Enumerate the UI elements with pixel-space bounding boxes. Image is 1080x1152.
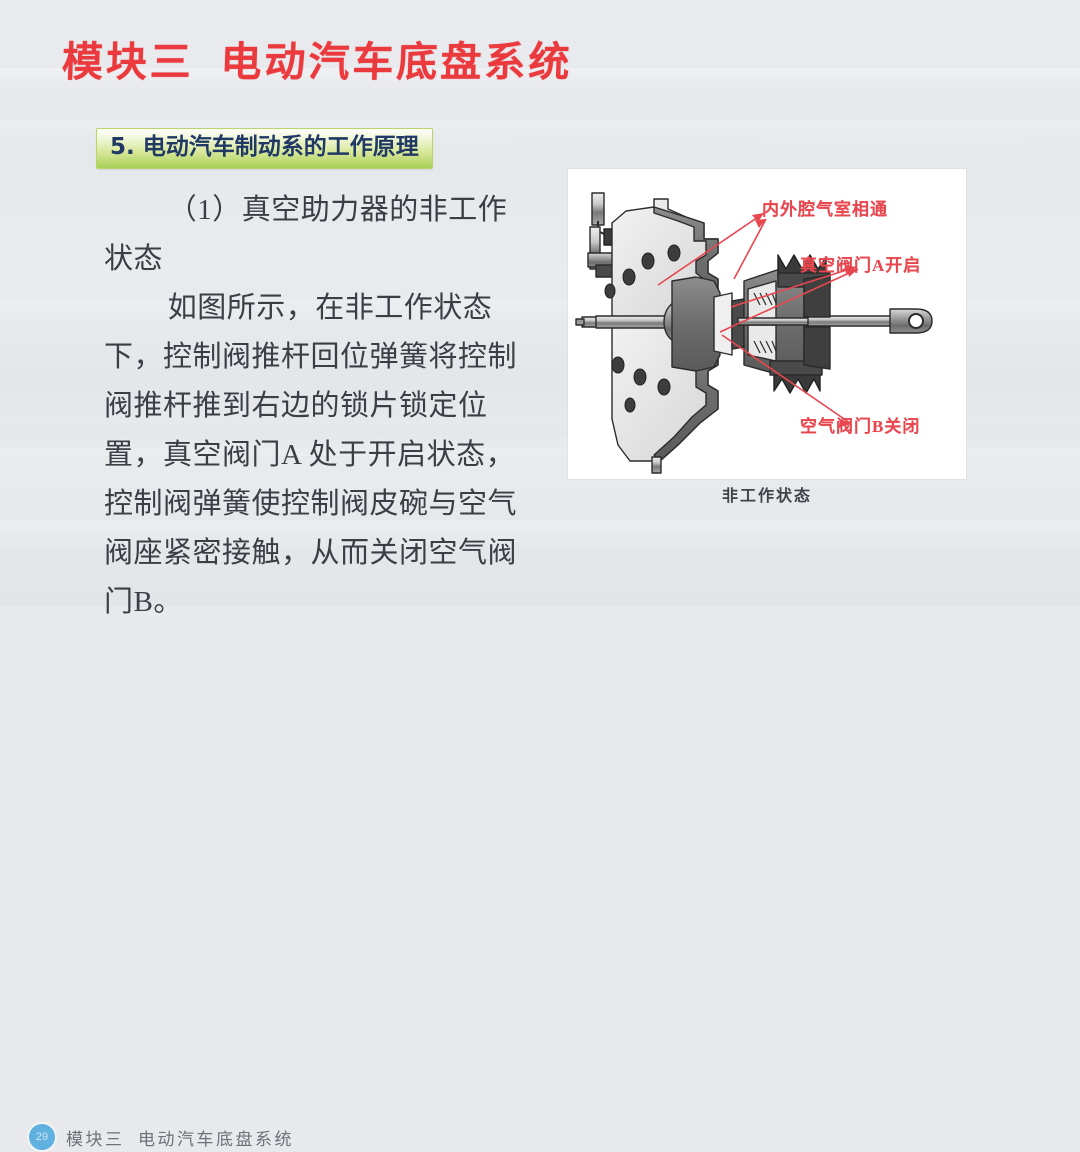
footer-bar: 29 模块三 电动汽车底盘系统 (0, 557, 1080, 607)
figure-caption: 非工作状态 (568, 482, 966, 506)
body-paragraph-1: （1）真空助力器的非工作状态 (104, 186, 534, 284)
page-number-badge: 29 (27, 1122, 57, 1152)
section-heading-banner: 5. 电动汽车制动系的工作原理 (96, 128, 433, 169)
page-number-label: 29 (36, 1132, 48, 1143)
slide-title: 模块三 电动汽车底盘系统 (61, 36, 573, 88)
figure-label-air-valve-b-closed: 空气阀门B关闭 (800, 412, 920, 437)
footer-title: 模块三 电动汽车底盘系统 (66, 1125, 294, 1150)
figure-label-inner-outer-chamber: 内外腔气室相通 (762, 195, 888, 220)
section-heading-label: 5. 电动汽车制动系的工作原理 (110, 133, 419, 162)
figure-label-vacuum-valve-a-open: 真空阀门A开启 (800, 251, 921, 276)
slide-canvas: 模块三 电动汽车底盘系统 5. 电动汽车制动系的工作原理 （1）真空助力器的非工… (0, 0, 1080, 607)
